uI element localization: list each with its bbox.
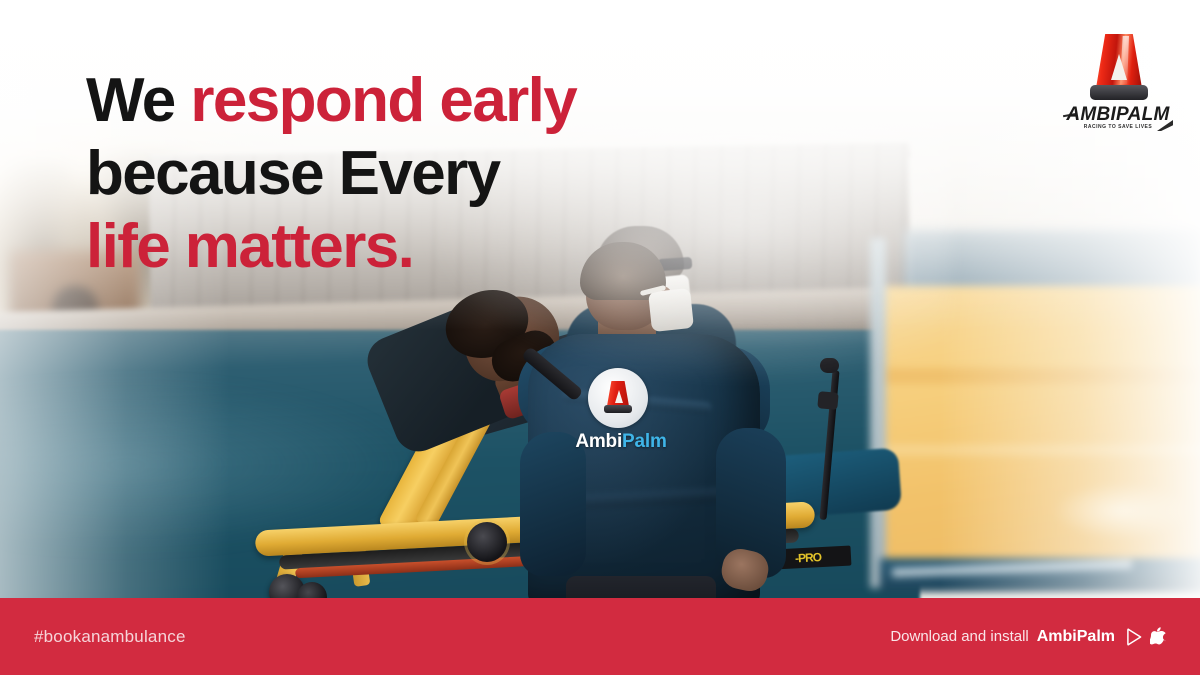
headline: We respond early because Every life matt… [86,64,766,283]
headline-line-1-part2: respond early [190,66,576,135]
hashtag-label: #bookanambulance [34,627,186,647]
siren-beacon-icon [1090,32,1148,104]
footer-bar: #bookanambulance Download and install Am… [0,598,1200,675]
jacket-wordmark-part1: Ambi [575,431,622,452]
headline-line-1-part1: We [86,66,190,135]
headline-line-1: We respond early [86,64,766,137]
jacket-wordmark-part2: Palm [622,431,667,452]
paramedic-trousers [566,576,716,600]
jacket-wordmark: AmbiPalm [562,432,680,451]
siren-base [1090,85,1148,100]
paramedic-arm [520,432,586,576]
siren-beacon-icon [603,381,633,415]
headline-line-3: life matters. [86,210,766,283]
logo-wordmark: AMBIPALM [1062,104,1174,126]
headline-line-2: because Every [86,137,766,210]
ambipalm-ad-banner: MX -PRO [0,0,1200,675]
store-icons [1126,627,1166,646]
siren-base [604,405,632,413]
apple-icon[interactable] [1150,627,1166,646]
download-text: Download and install [890,628,1028,645]
ambipalm-logo[interactable]: AMBIPALM RACING TO SAVE LIVES [1062,32,1174,140]
download-brand: AmbiPalm [1037,628,1115,646]
logo-tagline: RACING TO SAVE LIVES [1062,124,1174,130]
download-cta[interactable]: Download and install AmbiPalm [890,627,1166,646]
google-play-icon[interactable] [1126,628,1143,646]
